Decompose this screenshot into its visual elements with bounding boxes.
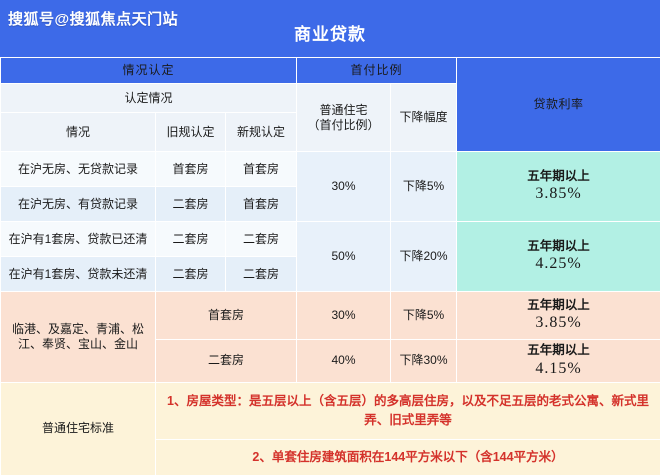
row-new-rule: 二套房 <box>226 222 297 257</box>
subheader-ordinary-home-line2: （首付比例） <box>299 118 388 133</box>
group-header-rate: 贷款利率 <box>457 58 660 152</box>
loan-policy-table: 情况认定 首付比例 贷款利率 认定情况 普通住宅 （首付比例） 下降幅度 情况 … <box>0 57 660 476</box>
rate-term-label: 五年期以上 <box>459 239 658 255</box>
area-row-payment: 30% <box>297 292 391 340</box>
rate-value: 4.25% <box>459 254 658 274</box>
table-row: 在沪有1套房、贷款已还清 二套房 二套房 50% 下降20% 五年期以上 4.2… <box>1 222 660 257</box>
standard-note-1: 1、房屋类型：是五层以上（含五层）的多高层住房，以及不足五层的老式公寓、新式里弄… <box>156 382 660 439</box>
standard-note-1-text: 1、房屋类型：是五层以上（含五层）的多高层住房，以及不足五层的老式公寓、新式里弄… <box>158 390 658 433</box>
standard-note-2: 2、单套住房建筑面积在144平方米以下（含144平方米） <box>156 440 660 476</box>
group-header-situation: 情况认定 <box>1 58 297 84</box>
page-title: 商业贷款 <box>0 20 660 45</box>
row-situation: 在沪有1套房、贷款已还清 <box>1 222 156 257</box>
standard-note-row: 普通住宅标准 1、房屋类型：是五层以上（含五层）的多高层住房，以及不足五层的老式… <box>1 382 660 439</box>
area-row-payment: 40% <box>297 339 391 382</box>
loan-rate-infographic: 搜狐号@搜狐焦点天门站 商业贷款 情况认定 首付比例 贷款利率 认定情况 普通住… <box>0 0 660 476</box>
header-banner: 搜狐号@搜狐焦点天门站 商业贷款 <box>0 0 660 57</box>
table-row: 在沪无房、无贷款记录 首套房 首套房 30% 下降5% 五年期以上 3.85% <box>1 152 660 187</box>
row-new-rule: 首套房 <box>226 187 297 222</box>
row-situation: 在沪有1套房、贷款未还清 <box>1 257 156 292</box>
table-group-header-row: 情况认定 首付比例 贷款利率 <box>1 58 660 84</box>
area-row-decline: 下降30% <box>391 339 457 382</box>
area-row-rate: 五年期以上 3.85% <box>457 292 660 340</box>
area-row-type: 二套房 <box>156 339 297 382</box>
area-row-type: 首套房 <box>156 292 297 340</box>
subheader-recognition: 认定情况 <box>1 84 297 113</box>
merged-rate-group-1: 五年期以上 3.85% <box>457 152 660 222</box>
area-table-row: 临港、及嘉定、青浦、松江、奉贤、宝山、金山 首套房 30% 下降5% 五年期以上… <box>1 292 660 340</box>
row-old-rule: 首套房 <box>156 152 226 187</box>
row-new-rule: 首套房 <box>226 152 297 187</box>
area-row-decline: 下降5% <box>391 292 457 340</box>
subheader-ordinary-home-line1: 普通住宅 <box>299 103 388 118</box>
rate-term-label: 五年期以上 <box>459 169 658 185</box>
subheader-situation: 情况 <box>1 113 156 152</box>
rate-value: 3.85% <box>459 184 658 204</box>
row-old-rule: 二套房 <box>156 187 226 222</box>
merged-rate-group-2: 五年期以上 4.25% <box>457 222 660 292</box>
row-old-rule: 二套房 <box>156 222 226 257</box>
rate-term-label: 五年期以上 <box>459 343 658 359</box>
standard-note-2-text: 2、单套住房建筑面积在144平方米以下（含144平方米） <box>158 446 658 469</box>
area-row-rate: 五年期以上 4.15% <box>457 339 660 382</box>
row-situation: 在沪无房、有贷款记录 <box>1 187 156 222</box>
row-new-rule: 二套房 <box>226 257 297 292</box>
merged-decline-group-2: 下降20% <box>391 222 457 292</box>
rate-term-label: 五年期以上 <box>459 298 658 314</box>
standard-label: 普通住宅标准 <box>1 382 156 475</box>
merged-payment-group-1: 30% <box>297 152 391 222</box>
group-header-downpayment: 首付比例 <box>297 58 457 84</box>
rate-value: 4.15% <box>459 359 658 379</box>
row-old-rule: 二套房 <box>156 257 226 292</box>
area-label: 临港、及嘉定、青浦、松江、奉贤、宝山、金山 <box>1 292 156 383</box>
subheader-new-rule: 新规认定 <box>226 113 297 152</box>
merged-decline-group-1: 下降5% <box>391 152 457 222</box>
merged-payment-group-2: 50% <box>297 222 391 292</box>
row-situation: 在沪无房、无贷款记录 <box>1 152 156 187</box>
subheader-old-rule: 旧规认定 <box>156 113 226 152</box>
subheader-decline: 下降幅度 <box>391 84 457 152</box>
subheader-ordinary-home: 普通住宅 （首付比例） <box>297 84 391 152</box>
rate-value: 3.85% <box>459 313 658 333</box>
